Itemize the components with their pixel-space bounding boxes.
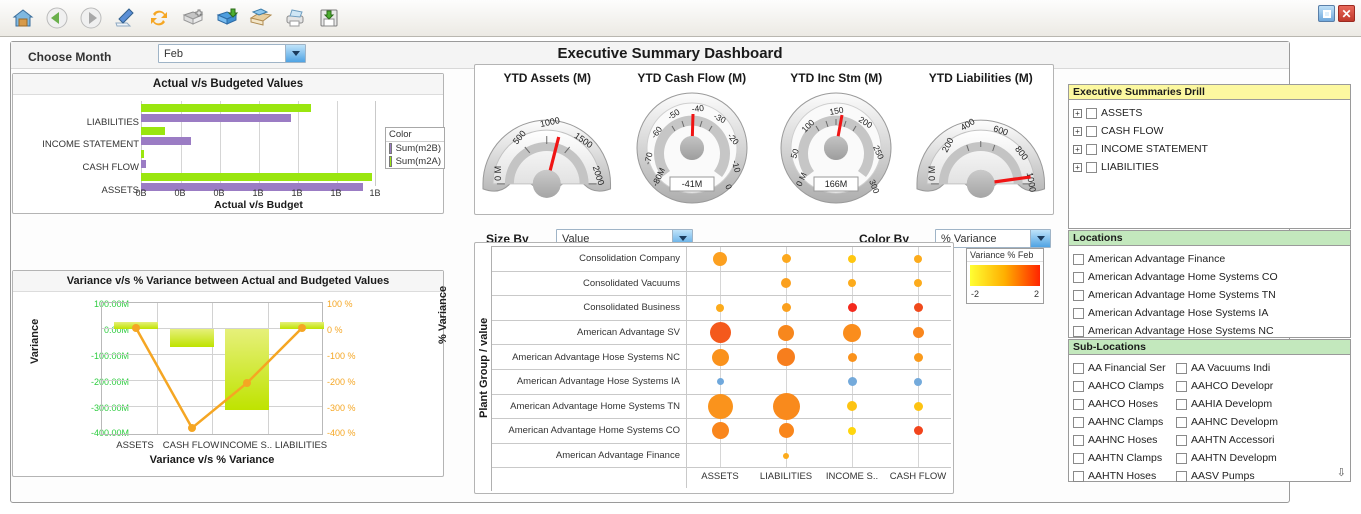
drill-item-label: ASSETS (1101, 107, 1142, 119)
checkbox[interactable] (1073, 453, 1084, 464)
bubble-cell[interactable] (885, 444, 951, 468)
print-icon[interactable] (280, 3, 310, 33)
checkbox[interactable] (1073, 381, 1084, 392)
checkbox[interactable] (1176, 381, 1187, 392)
sub-location-item[interactable]: AA Vacuums Indi (1176, 359, 1278, 377)
bar-category-label: ASSETS (21, 185, 139, 196)
gauge-dial: 0 M 500 1000 1500 2000 (475, 89, 620, 204)
bubble-marker[interactable] (848, 353, 857, 362)
drill-item[interactable]: +ASSETS (1073, 104, 1350, 122)
bubble-cell[interactable] (885, 345, 951, 369)
bubble-cell[interactable] (753, 345, 819, 369)
bubble-cell[interactable] (819, 247, 885, 271)
bubble-column-label: ASSETS (687, 468, 753, 488)
new-book-icon[interactable] (178, 3, 208, 33)
chevron-down-icon[interactable] (285, 45, 305, 62)
restore-icon[interactable] (1318, 5, 1335, 22)
save-icon[interactable] (314, 3, 344, 33)
bubble-cell[interactable] (753, 321, 819, 345)
bubble-marker[interactable] (913, 327, 924, 338)
bubble-cell[interactable] (753, 247, 819, 271)
location-item[interactable]: American Advantage Finance (1073, 250, 1350, 268)
svg-text:166M: 166M (825, 179, 848, 189)
checkbox[interactable] (1073, 417, 1084, 428)
bubble-marker[interactable] (713, 252, 727, 266)
expand-plus-icon[interactable]: + (1073, 109, 1082, 118)
drill-panel-title: Executive Summaries Drill (1069, 85, 1350, 100)
bubble-marker[interactable] (781, 278, 791, 288)
bubble-cell[interactable] (819, 272, 885, 296)
bubble-marker[interactable] (914, 255, 922, 263)
sub-location-item-label: AAHCO Developr (1191, 380, 1273, 392)
bubble-cell[interactable] (753, 419, 819, 443)
chevron-down-icon[interactable] (1030, 230, 1050, 247)
checkbox[interactable] (1086, 162, 1097, 173)
variance-yaxis-right-label: % Variance (437, 286, 449, 344)
checkbox[interactable] (1086, 126, 1097, 137)
variance-title: Variance v/s % Variance between Actual a… (13, 271, 443, 292)
bar-liabilities-actual (141, 104, 311, 112)
close-icon[interactable]: ✕ (1338, 5, 1355, 22)
bubble-row-label: American Advantage Finance (492, 444, 687, 468)
svg-text:-41M: -41M (681, 179, 702, 189)
legend-label: Sum(m2B) (396, 143, 441, 154)
legend-swatch (389, 156, 392, 167)
variance-ytick-right: -400 % (327, 428, 356, 438)
sub-location-item-label: AAHCO Hoses (1088, 398, 1158, 410)
sub-location-item[interactable]: AAHTN Accessori (1176, 431, 1278, 449)
bubble-marker[interactable] (914, 279, 922, 287)
sub-location-item-label: AAHTN Accessori (1191, 434, 1274, 446)
bubble-row-label: Consolidated Business (492, 296, 687, 320)
bubble-row: Consolidated Business (492, 296, 951, 321)
bubble-marker[interactable] (712, 422, 729, 439)
bubble-cell[interactable] (819, 370, 885, 394)
bubble-cell[interactable] (687, 321, 753, 345)
sub-location-item-label: AAHTN Developm (1191, 452, 1277, 464)
sub-locations-panel: Sub-Locations AA Financial SerAAHCO Clam… (1068, 339, 1351, 482)
drill-item-label: INCOME STATEMENT (1101, 143, 1208, 155)
expand-plus-icon[interactable]: + (1073, 163, 1082, 172)
gauge-title: YTD Cash Flow (M) (620, 71, 765, 85)
bubble-marker[interactable] (848, 427, 856, 435)
bubble-row: American Advantage Home Systems CO (492, 419, 951, 444)
back-arrow-icon[interactable] (42, 3, 72, 33)
location-item-label: American Advantage Home Systems TN (1088, 289, 1276, 301)
location-item[interactable]: American Advantage Hose Systems NC (1073, 322, 1350, 340)
locations-panel-title: Locations (1069, 231, 1350, 246)
bubble-row: American Advantage Hose Systems IA (492, 370, 951, 395)
color-legend-gradient (970, 265, 1040, 286)
bar-assets-actual (141, 173, 372, 181)
sub-location-item-label: AAHNC Hoses (1088, 434, 1157, 446)
legend-item[interactable]: Sum(m2B) (386, 142, 444, 155)
bubble-matrix: Consolidation CompanyConsolidated Vacuum… (491, 246, 951, 491)
bubble-marker[interactable] (782, 303, 791, 312)
locations-panel: Locations American Advantage FinanceAmer… (1068, 230, 1351, 338)
checkbox[interactable] (1176, 363, 1187, 374)
open-book-icon[interactable] (212, 3, 242, 33)
bubble-cell[interactable] (885, 272, 951, 296)
checkbox[interactable] (1073, 363, 1084, 374)
bar-income-actual (141, 127, 165, 135)
bubble-yaxis-label: Plant Group / value (478, 318, 490, 418)
checkbox[interactable] (1176, 435, 1187, 446)
sub-location-item[interactable]: AAHIA Developm (1176, 395, 1278, 413)
bubble-cell[interactable] (819, 419, 885, 443)
checkbox[interactable] (1176, 471, 1187, 482)
bubble-cell[interactable] (687, 296, 753, 320)
bubble-marker[interactable] (777, 348, 795, 366)
bubble-row-label: American Advantage SV (492, 321, 687, 345)
variance-ytick-right: 0 % (327, 325, 343, 335)
bubble-marker[interactable] (782, 254, 791, 263)
sub-location-item-label: AAHNC Clamps (1088, 416, 1163, 428)
variance-ytick-right: -300 % (327, 403, 356, 413)
location-item[interactable]: American Advantage Home Systems CO (1073, 268, 1350, 286)
bubble-cell[interactable] (885, 395, 951, 419)
expand-plus-icon[interactable]: + (1073, 145, 1082, 154)
svg-text:-40: -40 (691, 103, 705, 114)
checkbox[interactable] (1073, 471, 1084, 482)
bubble-marker[interactable] (779, 423, 794, 438)
scroll-down-arrow-icon[interactable]: ⇩ (1337, 466, 1346, 479)
month-select[interactable]: Feb (158, 44, 306, 63)
location-item[interactable]: American Advantage Home Systems TN (1073, 286, 1350, 304)
bubble-cell[interactable] (753, 395, 819, 419)
sub-location-item[interactable]: AAHCO Hoses (1073, 395, 1176, 413)
sub-location-item-label: AAHTN Clamps (1088, 452, 1162, 464)
gauges-panel: YTD Assets (M) 0 M 500 1000 1500 2000 (474, 64, 1054, 215)
month-select-value: Feb (159, 48, 285, 60)
bubble-marker[interactable] (716, 304, 724, 312)
window-controls: ✕ (1318, 5, 1355, 22)
bubble-cell[interactable] (687, 419, 753, 443)
checkbox[interactable] (1073, 326, 1084, 337)
bubble-row: American Advantage SV (492, 321, 951, 346)
bubble-cell[interactable] (687, 247, 753, 271)
bubble-row: American Advantage Finance (492, 444, 951, 469)
sub-location-item[interactable]: AAHTN Developm (1176, 449, 1278, 467)
legend-item[interactable]: Sum(m2A) (386, 155, 444, 168)
sub-location-item[interactable]: AAHNC Hoses (1073, 431, 1176, 449)
location-item[interactable]: American Advantage Hose Systems IA (1073, 304, 1350, 322)
bar-liabilities-budget (141, 114, 291, 122)
bubble-row: American Advantage Hose Systems NC (492, 345, 951, 370)
bubble-marker[interactable] (914, 402, 923, 411)
bubble-row-label: American Advantage Home Systems CO (492, 419, 687, 443)
color-legend-title: Variance % Feb (967, 249, 1043, 262)
bubble-marker[interactable] (773, 393, 800, 420)
drill-item[interactable]: +CASH FLOW (1073, 122, 1350, 140)
color-legend-max: 2 (1034, 289, 1039, 299)
bubble-row: Consolidation Company (492, 247, 951, 272)
bubble-cell[interactable] (687, 395, 753, 419)
expand-plus-icon[interactable]: + (1073, 127, 1082, 136)
bubble-marker[interactable] (848, 279, 856, 287)
bar-category-label: LIABILITIES (21, 117, 139, 128)
sub-location-item[interactable]: AAHNC Developm (1176, 413, 1278, 431)
checkbox[interactable] (1176, 453, 1187, 464)
bubble-cell[interactable] (819, 395, 885, 419)
variance-ytick-right: 100 % (327, 299, 353, 309)
variance-panel: Variance v/s % Variance between Actual a… (12, 270, 444, 477)
location-item-label: American Advantage Finance (1088, 253, 1225, 265)
bar-cashflow-budget (141, 160, 146, 168)
bubble-cell[interactable] (687, 444, 753, 468)
gauge-ytd-cash-flow: YTD Cash Flow (M) -80M -70 -60 -50 -40 -… (620, 65, 765, 214)
bar-income-budget (141, 137, 191, 145)
variance-yaxis-label: Variance (29, 319, 41, 364)
bubble-cell[interactable] (885, 296, 951, 320)
location-item-label: American Advantage Hose Systems IA (1088, 307, 1268, 319)
gauge-title: YTD Liabilities (M) (909, 71, 1054, 85)
legend-title: Color (386, 128, 444, 142)
sub-location-item[interactable]: AA Financial Ser (1073, 359, 1176, 377)
bubble-cell[interactable] (753, 296, 819, 320)
bubble-cell[interactable] (819, 296, 885, 320)
checkbox[interactable] (1176, 399, 1187, 410)
sub-location-item-label: AA Financial Ser (1088, 362, 1166, 374)
bubble-cell[interactable] (687, 272, 753, 296)
bubble-row-label: Consolidated Vacuums (492, 272, 687, 296)
sub-location-item-label: AAHCO Clamps (1088, 380, 1164, 392)
bubble-marker[interactable] (712, 349, 729, 366)
svg-text:0 M: 0 M (493, 166, 503, 181)
bubble-column-label: CASH FLOW (885, 468, 951, 488)
sub-location-item-label: AAHNC Developm (1191, 416, 1278, 428)
variance-line-series (102, 303, 324, 436)
bubble-cell[interactable] (885, 419, 951, 443)
gauge-title: YTD Assets (M) (475, 71, 620, 85)
bubble-marker[interactable] (710, 322, 731, 343)
bubble-cell[interactable] (819, 345, 885, 369)
checkbox[interactable] (1073, 272, 1084, 283)
bubble-marker[interactable] (848, 303, 857, 312)
gauge-ytd-inc-stm: YTD Inc Stm (M) 0 M 50 100 150 200 250 3… (764, 65, 909, 214)
bubble-marker[interactable] (778, 325, 794, 341)
bubble-cell[interactable] (819, 444, 885, 468)
color-legend-min: -2 (971, 289, 979, 299)
bar-chart-xaxis-label: Actual v/s Budget (141, 199, 376, 211)
variance-categories: ASSETS CASH FLOW INCOME S.. LIABILITIES (101, 440, 323, 454)
bubble-row: American Advantage Home Systems TN (492, 395, 951, 420)
checkbox[interactable] (1073, 435, 1084, 446)
sub-location-item[interactable]: AASV Pumps (1176, 467, 1278, 485)
drill-item[interactable]: +INCOME STATEMENT (1073, 140, 1350, 158)
edit-pen-icon[interactable] (110, 3, 140, 33)
bubble-marker[interactable] (708, 394, 733, 419)
legend-label: Sum(m2A) (396, 156, 441, 167)
bubble-marker[interactable] (848, 255, 856, 263)
bubble-cell[interactable] (687, 345, 753, 369)
svg-text:0 M: 0 M (926, 166, 936, 181)
bubble-cell[interactable] (687, 370, 753, 394)
bar-category-label: CASH FLOW (21, 162, 139, 173)
bubble-row: Consolidated Vacuums (492, 272, 951, 297)
drill-item[interactable]: +LIABILITIES (1073, 158, 1350, 176)
checkbox[interactable] (1086, 144, 1097, 155)
actual-vs-budget-plot: LIABILITIES INCOME STATEMENT CASH FLOW A… (13, 95, 443, 213)
gauge-title: YTD Inc Stm (M) (764, 71, 909, 85)
bubble-row-label: American Advantage Hose Systems NC (492, 345, 687, 369)
bubble-row-label: American Advantage Home Systems TN (492, 395, 687, 419)
bubble-marker[interactable] (847, 401, 857, 411)
bubble-cell[interactable] (753, 370, 819, 394)
bubble-column-label: INCOME S.. (819, 468, 885, 488)
gauge-ytd-liabilities: YTD Liabilities (M) 0 M 200 400 600 800 … (909, 65, 1054, 214)
sub-location-item-label: AASV Pumps (1191, 470, 1255, 482)
choose-month-label: Choose Month (28, 50, 111, 64)
bubble-row-label: Consolidation Company (492, 247, 687, 271)
checkbox[interactable] (1073, 254, 1084, 265)
location-item-label: American Advantage Hose Systems NC (1088, 325, 1274, 337)
bubble-row-label: American Advantage Hose Systems IA (492, 370, 687, 394)
bubble-matrix-panel: Plant Group / value Consolidation Compan… (474, 242, 954, 494)
sub-location-item[interactable]: AAHCO Developr (1176, 377, 1278, 395)
variance-ytick-right: -200 % (327, 377, 356, 387)
drill-item-label: LIABILITIES (1101, 161, 1159, 173)
actual-vs-budget-title: Actual v/s Budgeted Values (13, 74, 443, 95)
bubble-cell[interactable] (885, 247, 951, 271)
bubble-marker[interactable] (783, 453, 789, 459)
checkbox[interactable] (1073, 290, 1084, 301)
checkbox[interactable] (1073, 308, 1084, 319)
gauge-dial: 0 M 200 400 600 800 1000 (909, 89, 1054, 204)
sub-location-item-label: AA Vacuums Indi (1191, 362, 1270, 374)
bubble-cell[interactable] (885, 370, 951, 394)
variance-plot: Variance % Variance 100.00M 0.00M -100.0… (13, 292, 443, 476)
sub-location-item[interactable]: AAHNC Clamps (1073, 413, 1176, 431)
bubble-marker[interactable] (914, 378, 922, 386)
bubble-column-label: LIABILITIES (753, 468, 819, 488)
home-icon[interactable] (8, 3, 38, 33)
sub-location-item-label: AAHIA Developm (1191, 398, 1272, 410)
legend-swatch (389, 143, 392, 154)
sub-location-item[interactable]: AAHTN Clamps (1073, 449, 1176, 467)
executive-summaries-drill-panel: Executive Summaries Drill +ASSETS+CASH F… (1068, 84, 1351, 229)
variance-plot-area (101, 302, 323, 435)
refresh-icon[interactable] (144, 3, 174, 33)
gauge-dial: 0 M 50 100 150 200 250 300 (772, 89, 900, 207)
bubble-column-headers: ASSETSLIABILITIESINCOME S..CASH FLOW (492, 468, 951, 488)
bar-chart-legend: Color Sum(m2B) Sum(m2A) (385, 127, 445, 169)
book-folder-icon[interactable] (246, 3, 276, 33)
bubble-cell[interactable] (819, 321, 885, 345)
bubble-marker[interactable] (848, 377, 857, 386)
bubble-cell[interactable] (753, 444, 819, 468)
drill-item-label: CASH FLOW (1101, 125, 1163, 137)
bubble-cell[interactable] (753, 272, 819, 296)
bubble-marker[interactable] (914, 303, 923, 312)
bar-category-label: INCOME STATEMENT (21, 139, 139, 150)
sub-location-item[interactable]: AAHTN Hoses (1073, 467, 1176, 485)
checkbox[interactable] (1073, 399, 1084, 410)
bar-cashflow-actual (141, 150, 144, 158)
bubble-cell[interactable] (885, 321, 951, 345)
variance-ytick-right: -100 % (327, 351, 356, 361)
main-toolbar: ✕ (0, 0, 1361, 37)
location-item-label: American Advantage Home Systems CO (1088, 271, 1278, 283)
bubble-marker[interactable] (914, 353, 923, 362)
page-title: Executive Summary Dashboard (520, 45, 820, 62)
actual-vs-budget-panel: Actual v/s Budgeted Values LIABILITIES I… (12, 73, 444, 214)
bubble-marker[interactable] (914, 426, 923, 435)
sub-location-item-label: AAHTN Hoses (1088, 470, 1156, 482)
gauge-ytd-assets: YTD Assets (M) 0 M 500 1000 1500 2000 (475, 65, 620, 214)
checkbox[interactable] (1176, 417, 1187, 428)
gauge-dial: -80M -70 -60 -50 -40 -30 -20 -10 0 (628, 89, 756, 207)
bubble-marker[interactable] (717, 378, 724, 385)
sub-location-item[interactable]: AAHCO Clamps (1073, 377, 1176, 395)
forward-arrow-icon[interactable] (76, 3, 106, 33)
variance-xaxis-label: Variance v/s % Variance (101, 454, 323, 466)
bubble-marker[interactable] (843, 324, 861, 342)
sub-locations-panel-title: Sub-Locations (1069, 340, 1350, 355)
color-legend: Variance % Feb -2 2 (966, 248, 1044, 304)
checkbox[interactable] (1086, 108, 1097, 119)
